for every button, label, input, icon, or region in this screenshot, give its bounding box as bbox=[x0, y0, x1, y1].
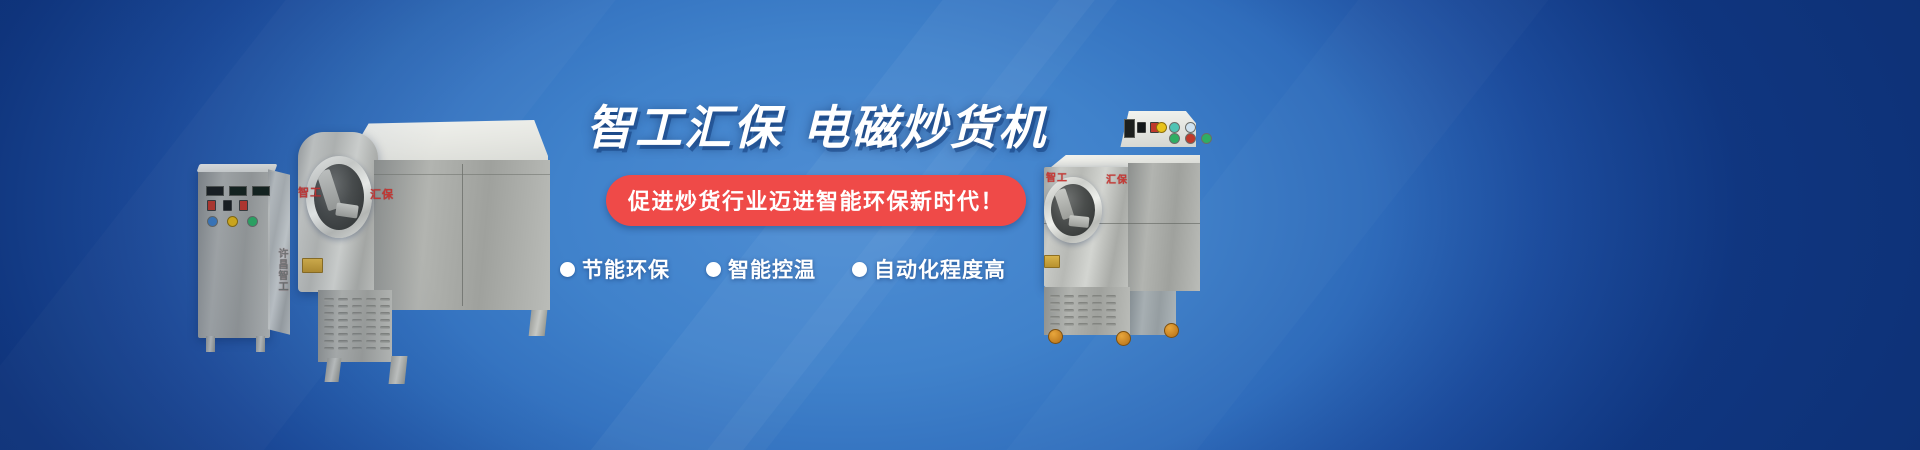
machine-caster bbox=[1048, 329, 1063, 344]
right-machine-nameplate bbox=[1044, 255, 1060, 268]
right-control-display bbox=[1124, 119, 1135, 138]
control-cabinet-top bbox=[197, 164, 278, 172]
banner-feature-list: 节能环保 智能控温 自动化程度高 bbox=[560, 254, 1030, 284]
feature-label: 智能控温 bbox=[728, 254, 816, 284]
vent-column bbox=[1064, 295, 1074, 326]
roaster-cabinet-door-split bbox=[462, 164, 463, 306]
control-panel-knob-row bbox=[207, 216, 258, 227]
feature-label: 自动化程度高 bbox=[874, 254, 1006, 284]
roaster-cabinet-seam bbox=[374, 174, 550, 175]
vent-column bbox=[1050, 295, 1060, 326]
product-banner: 许昌智工 智工 汇保 bbox=[0, 0, 1920, 450]
vent-column bbox=[1092, 295, 1102, 326]
headline-product: 电磁炒货机 bbox=[802, 101, 1047, 154]
feature-item: 节能环保 bbox=[560, 254, 670, 284]
drum-blade bbox=[1068, 215, 1089, 228]
control-panel-display-row bbox=[206, 186, 270, 196]
vent-column bbox=[352, 298, 362, 350]
right-control-button-row-bottom bbox=[1169, 133, 1212, 144]
right-body-side bbox=[1128, 163, 1200, 291]
roaster-leg bbox=[389, 356, 408, 384]
vent-column bbox=[1106, 295, 1116, 326]
feature-label: 节能环保 bbox=[582, 254, 670, 284]
right-control-emergency-knob bbox=[1156, 122, 1167, 133]
machine-brand-left-text: 智工 bbox=[298, 184, 322, 200]
bullet-dot-icon bbox=[706, 262, 721, 277]
vent-column bbox=[1078, 295, 1088, 326]
machine-right-illustration: 智工 汇保 bbox=[1040, 105, 1240, 355]
vent-column bbox=[324, 298, 334, 350]
machine-caster bbox=[1164, 323, 1179, 338]
feature-item: 自动化程度高 bbox=[852, 254, 1006, 284]
cabinet-leg bbox=[206, 336, 215, 352]
control-panel-switch-row bbox=[207, 200, 248, 211]
drum-blade bbox=[335, 203, 359, 219]
bullet-dot-icon bbox=[560, 262, 575, 277]
right-drum-opening bbox=[1051, 184, 1095, 236]
vent-column bbox=[338, 298, 348, 350]
right-vent-grille bbox=[1050, 295, 1116, 326]
cabinet-vertical-text: 许昌智工 bbox=[274, 248, 289, 292]
roaster-leg bbox=[325, 358, 342, 382]
bullet-dot-icon bbox=[852, 262, 867, 277]
vent-column bbox=[380, 298, 390, 350]
headline-brand: 智工汇保 bbox=[586, 101, 782, 154]
right-brand-right-text: 汇保 bbox=[1106, 171, 1128, 186]
banner-copy-block: 智工汇保电磁炒货机 促进炒货行业迈进智能环保新时代！ 节能环保 智能控温 自动化… bbox=[560, 104, 1030, 284]
machine-nameplate bbox=[302, 258, 323, 273]
right-control-button-row-top bbox=[1169, 122, 1196, 133]
feature-item: 智能控温 bbox=[706, 254, 816, 284]
roaster-vent-grille bbox=[324, 298, 390, 350]
right-brand-left-text: 智工 bbox=[1046, 169, 1068, 184]
banner-headline: 智工汇保电磁炒货机 bbox=[586, 104, 1030, 151]
machine-caster bbox=[1116, 331, 1131, 346]
cabinet-leg bbox=[256, 336, 265, 352]
vent-column bbox=[366, 298, 376, 350]
banner-slogan-ribbon: 促进炒货行业迈进智能环保新时代！ bbox=[606, 175, 1026, 226]
roaster-leg bbox=[529, 310, 548, 336]
machine-brand-right-text: 汇保 bbox=[370, 186, 394, 202]
machine-left-illustration: 许昌智工 智工 汇保 bbox=[190, 100, 570, 360]
